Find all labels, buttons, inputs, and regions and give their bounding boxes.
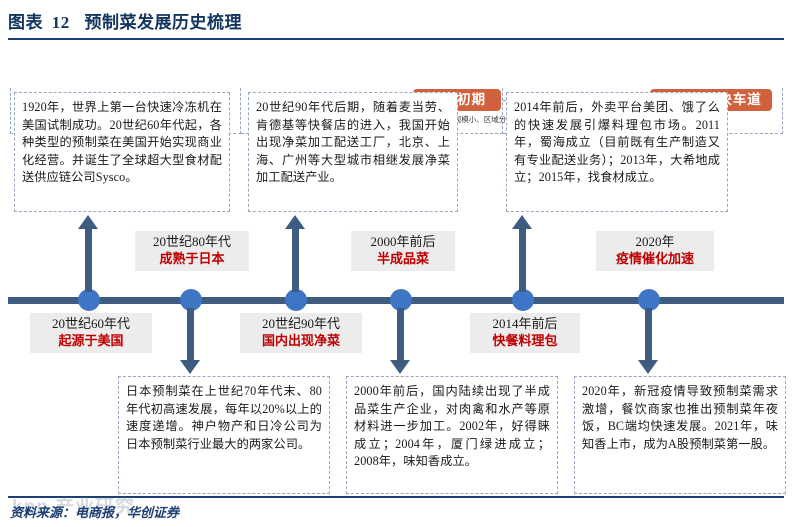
milestone-event-1: 起源于美国 bbox=[38, 332, 144, 349]
timeline-stem-arrow-down-6 bbox=[638, 360, 658, 374]
timeline-stem-6 bbox=[645, 308, 652, 362]
phase-separator-2 bbox=[502, 88, 503, 134]
timeline-node-5[interactable] bbox=[512, 289, 534, 311]
milestone-chip-2: 20世纪80年代 成熟于日本 bbox=[135, 231, 249, 271]
timeline-stem-arrow-up-3 bbox=[285, 215, 305, 229]
figure-title-text: 预制菜发展历史梳理 bbox=[85, 13, 243, 32]
milestone-chip-4: 2000年前后 半成品菜 bbox=[351, 231, 455, 271]
milestone-chip-6: 2020年 疫情催化加速 bbox=[596, 231, 714, 271]
info-box-usa-origin: 1920年，世界上第一台快速冷冻机在美国试制成功。20世纪60年代起，各种类型的… bbox=[14, 92, 230, 212]
page-title: 图表 12 预制菜发展历史梳理 bbox=[8, 8, 784, 33]
source-note: 资料来源：电商报，华创证券 bbox=[10, 502, 179, 521]
milestone-year-6: 2020年 bbox=[604, 234, 706, 250]
timeline-stem-2 bbox=[187, 308, 194, 362]
milestone-chip-3: 20世纪90年代 国内出现净菜 bbox=[240, 313, 362, 353]
info-box-china-1990s: 20世纪90年代后期，随着麦当劳、肯德基等快餐店的进入，我国开始出现净菜加工配送… bbox=[248, 92, 458, 212]
milestone-year-1: 20世纪60年代 bbox=[38, 316, 144, 332]
header-divider bbox=[8, 38, 784, 40]
info-box-2014-takeaway: 2014年前后，外卖平台美团、饿了么的快速发展引爆料理包市场。2011年，蜀海成… bbox=[506, 92, 728, 212]
timeline-stem-4 bbox=[397, 308, 404, 362]
milestone-event-4: 半成品菜 bbox=[359, 250, 447, 267]
milestone-year-3: 20世纪90年代 bbox=[248, 316, 354, 332]
phase-band: 发展初期 （集中度低、规模小、区域分散） 步入发展快车道 bbox=[0, 44, 792, 92]
milestone-event-3: 国内出现净菜 bbox=[248, 332, 354, 349]
milestone-event-5: 快餐料理包 bbox=[478, 332, 572, 349]
info-box-2020-pandemic: 2020年，新冠疫情导致预制菜需求激增，餐饮商家也推出预制菜年夜饭，BC端均快速… bbox=[574, 376, 786, 494]
timeline-stem-arrow-up-1 bbox=[78, 215, 98, 229]
timeline-stem-arrow-down-2 bbox=[180, 360, 200, 374]
timeline-stem-arrow-up-5 bbox=[512, 215, 532, 229]
milestone-year-5: 2014年前后 bbox=[478, 316, 572, 332]
milestone-year-2: 20世纪80年代 bbox=[143, 234, 241, 250]
milestone-event-2: 成熟于日本 bbox=[143, 250, 241, 267]
phase-separator-1 bbox=[240, 88, 241, 134]
figure-header: 图表 12 预制菜发展历史梳理 bbox=[8, 8, 784, 42]
milestone-chip-5: 2014年前后 快餐料理包 bbox=[470, 313, 580, 353]
info-box-2000-semifinished: 2000年前后，国内陆续出现了半成品菜生产企业，对肉禽和水产等原材料进一步加工。… bbox=[346, 376, 558, 494]
figure-canvas: 图表 12 预制菜发展历史梳理 发展初期 （集中度低、规模小、区域分散） 步入发… bbox=[0, 0, 792, 527]
timeline-stem-5 bbox=[519, 228, 526, 292]
milestone-year-4: 2000年前后 bbox=[359, 234, 447, 250]
timeline-stem-1 bbox=[85, 228, 92, 292]
timeline-node-3[interactable] bbox=[285, 289, 307, 311]
timeline-stem-3 bbox=[292, 228, 299, 292]
timeline-node-1[interactable] bbox=[78, 289, 100, 311]
milestone-event-6: 疫情催化加速 bbox=[604, 250, 706, 267]
info-box-japan: 日本预制菜在上世纪70年代末、80年代初高速发展，每年以20%以上的速度递增。神… bbox=[118, 376, 330, 494]
timeline-stem-arrow-down-4 bbox=[390, 360, 410, 374]
phase-separator-end bbox=[782, 88, 783, 134]
milestone-chip-1: 20世纪60年代 起源于美国 bbox=[30, 313, 152, 353]
figure-number: 12 bbox=[52, 13, 70, 33]
phase-separator-start bbox=[10, 88, 11, 134]
figure-label: 图表 bbox=[8, 13, 43, 32]
